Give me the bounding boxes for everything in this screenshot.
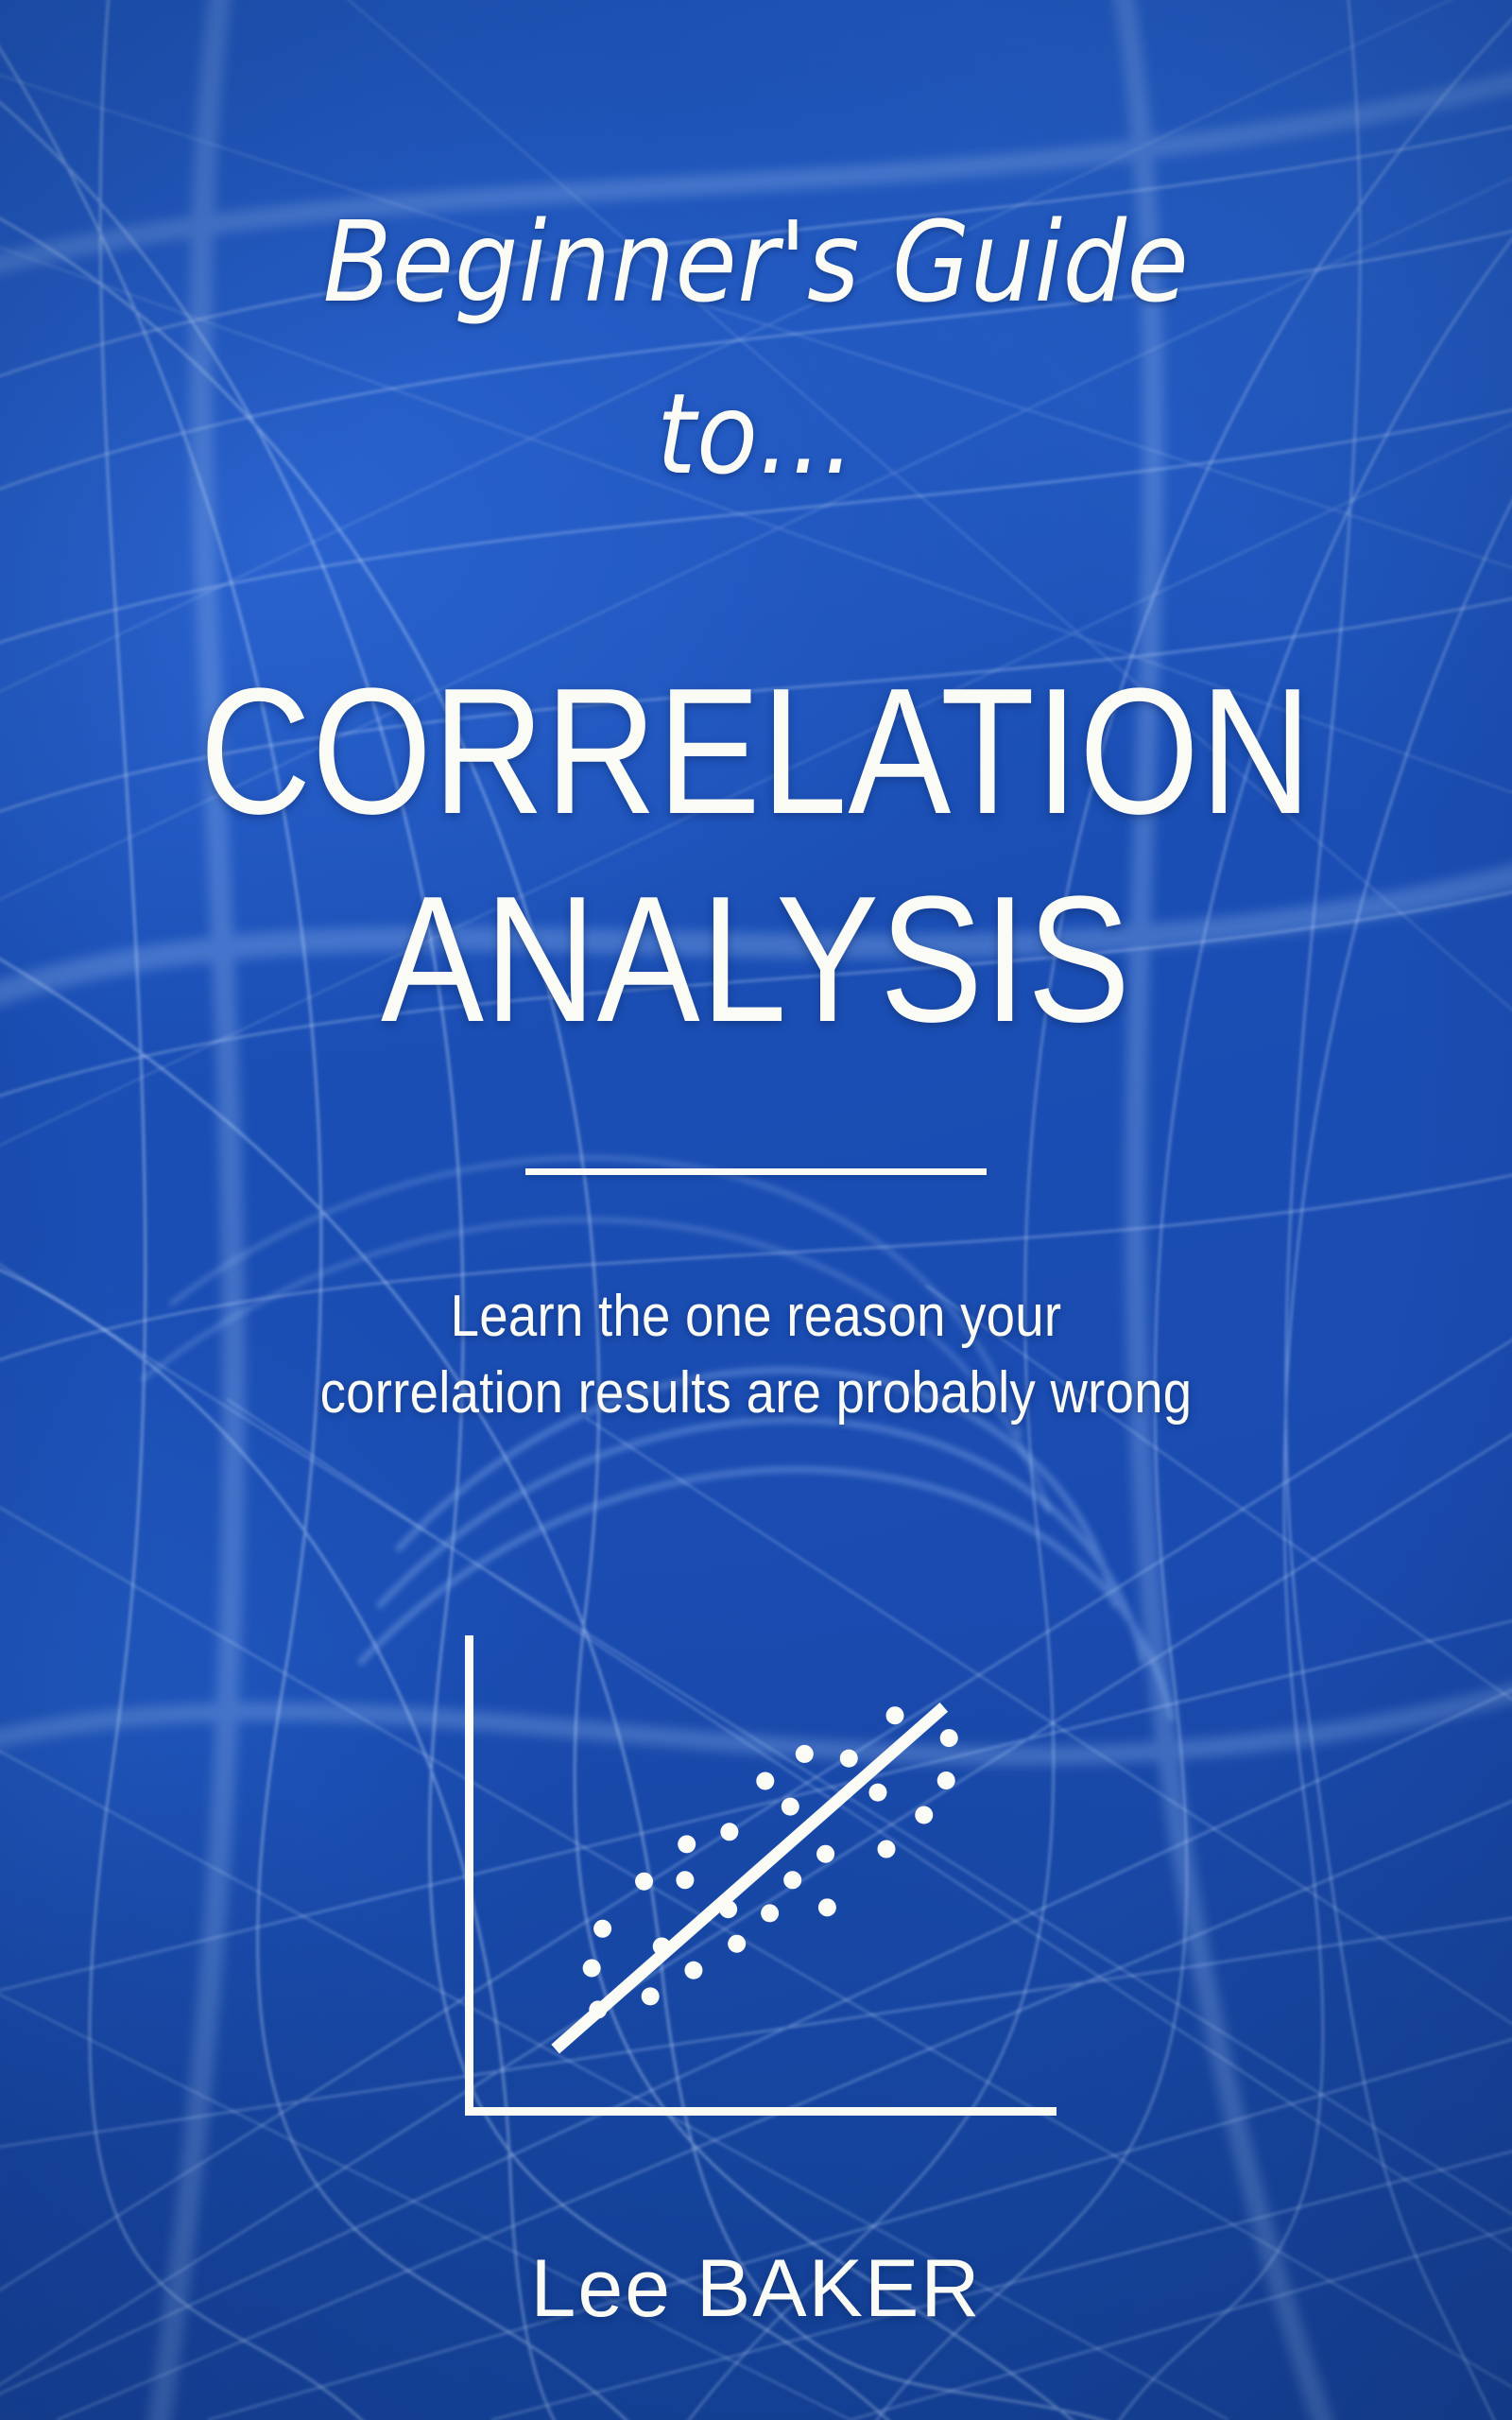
scatter-point: [728, 1935, 746, 1953]
scatter-point: [761, 1904, 779, 1922]
subtitle-line-1: Learn the one reason your: [91, 1288, 1421, 1346]
scatter-point: [635, 1873, 653, 1891]
scatter-point: [593, 1920, 611, 1938]
scatter-point: [642, 1987, 660, 2005]
scatter-point: [783, 1871, 801, 1889]
trendline: [556, 1707, 944, 2049]
scatter-point: [868, 1784, 886, 1802]
scatter-point: [796, 1745, 814, 1763]
scatter-point: [940, 1729, 958, 1747]
scatter-point: [678, 1835, 696, 1853]
scatter-point: [886, 1706, 904, 1724]
scatter-point: [782, 1798, 799, 1816]
subtitle-line-2: correlation results are probably wrong: [91, 1364, 1421, 1423]
scatter-point: [818, 1898, 836, 1916]
book-cover: Beginner's Guide to... CORRELATION ANALY…: [0, 0, 1512, 2420]
scatter-point: [756, 1772, 774, 1789]
scatter-point: [583, 1959, 601, 1977]
scatter-point: [720, 1823, 738, 1841]
title-line-1: CORRELATION: [106, 662, 1406, 841]
scatter-point: [653, 1938, 671, 1956]
kicker-line-1: Beginner's Guide: [0, 206, 1512, 318]
scatter-point: [937, 1772, 955, 1789]
author-name: Lee BAKER: [0, 2242, 1512, 2336]
scatter-point: [589, 2000, 607, 2018]
scatter-point: [840, 1750, 858, 1768]
scatter-point: [915, 1806, 933, 1824]
scatter-plot-illustration: [444, 1635, 1087, 2136]
scatter-point: [816, 1845, 834, 1863]
scatter-point: [684, 1962, 702, 1979]
scatter-plot-svg: [444, 1635, 1087, 2136]
scatter-point: [676, 1871, 694, 1889]
scatter-point: [878, 1841, 896, 1858]
title-line-2: ANALYSIS: [106, 870, 1406, 1049]
scatter-point: [719, 1900, 737, 1918]
kicker-line-2: to...: [0, 378, 1512, 490]
title-divider-rule: [525, 1168, 987, 1175]
